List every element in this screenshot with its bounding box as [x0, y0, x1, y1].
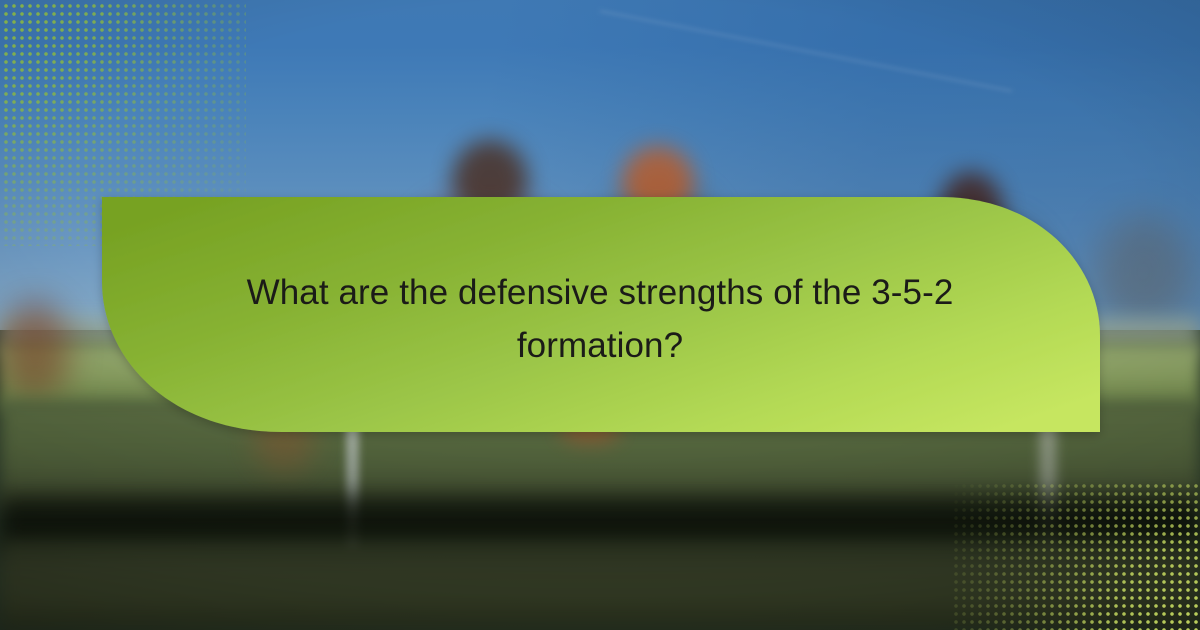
question-text-container: What are the defensive strengths of the …: [150, 197, 1050, 433]
social-card-canvas: What are the defensive strengths of the …: [0, 0, 1200, 630]
question-text: What are the defensive strengths of the …: [200, 258, 1000, 372]
halftone-dots-bottom-right-icon: [954, 484, 1200, 630]
